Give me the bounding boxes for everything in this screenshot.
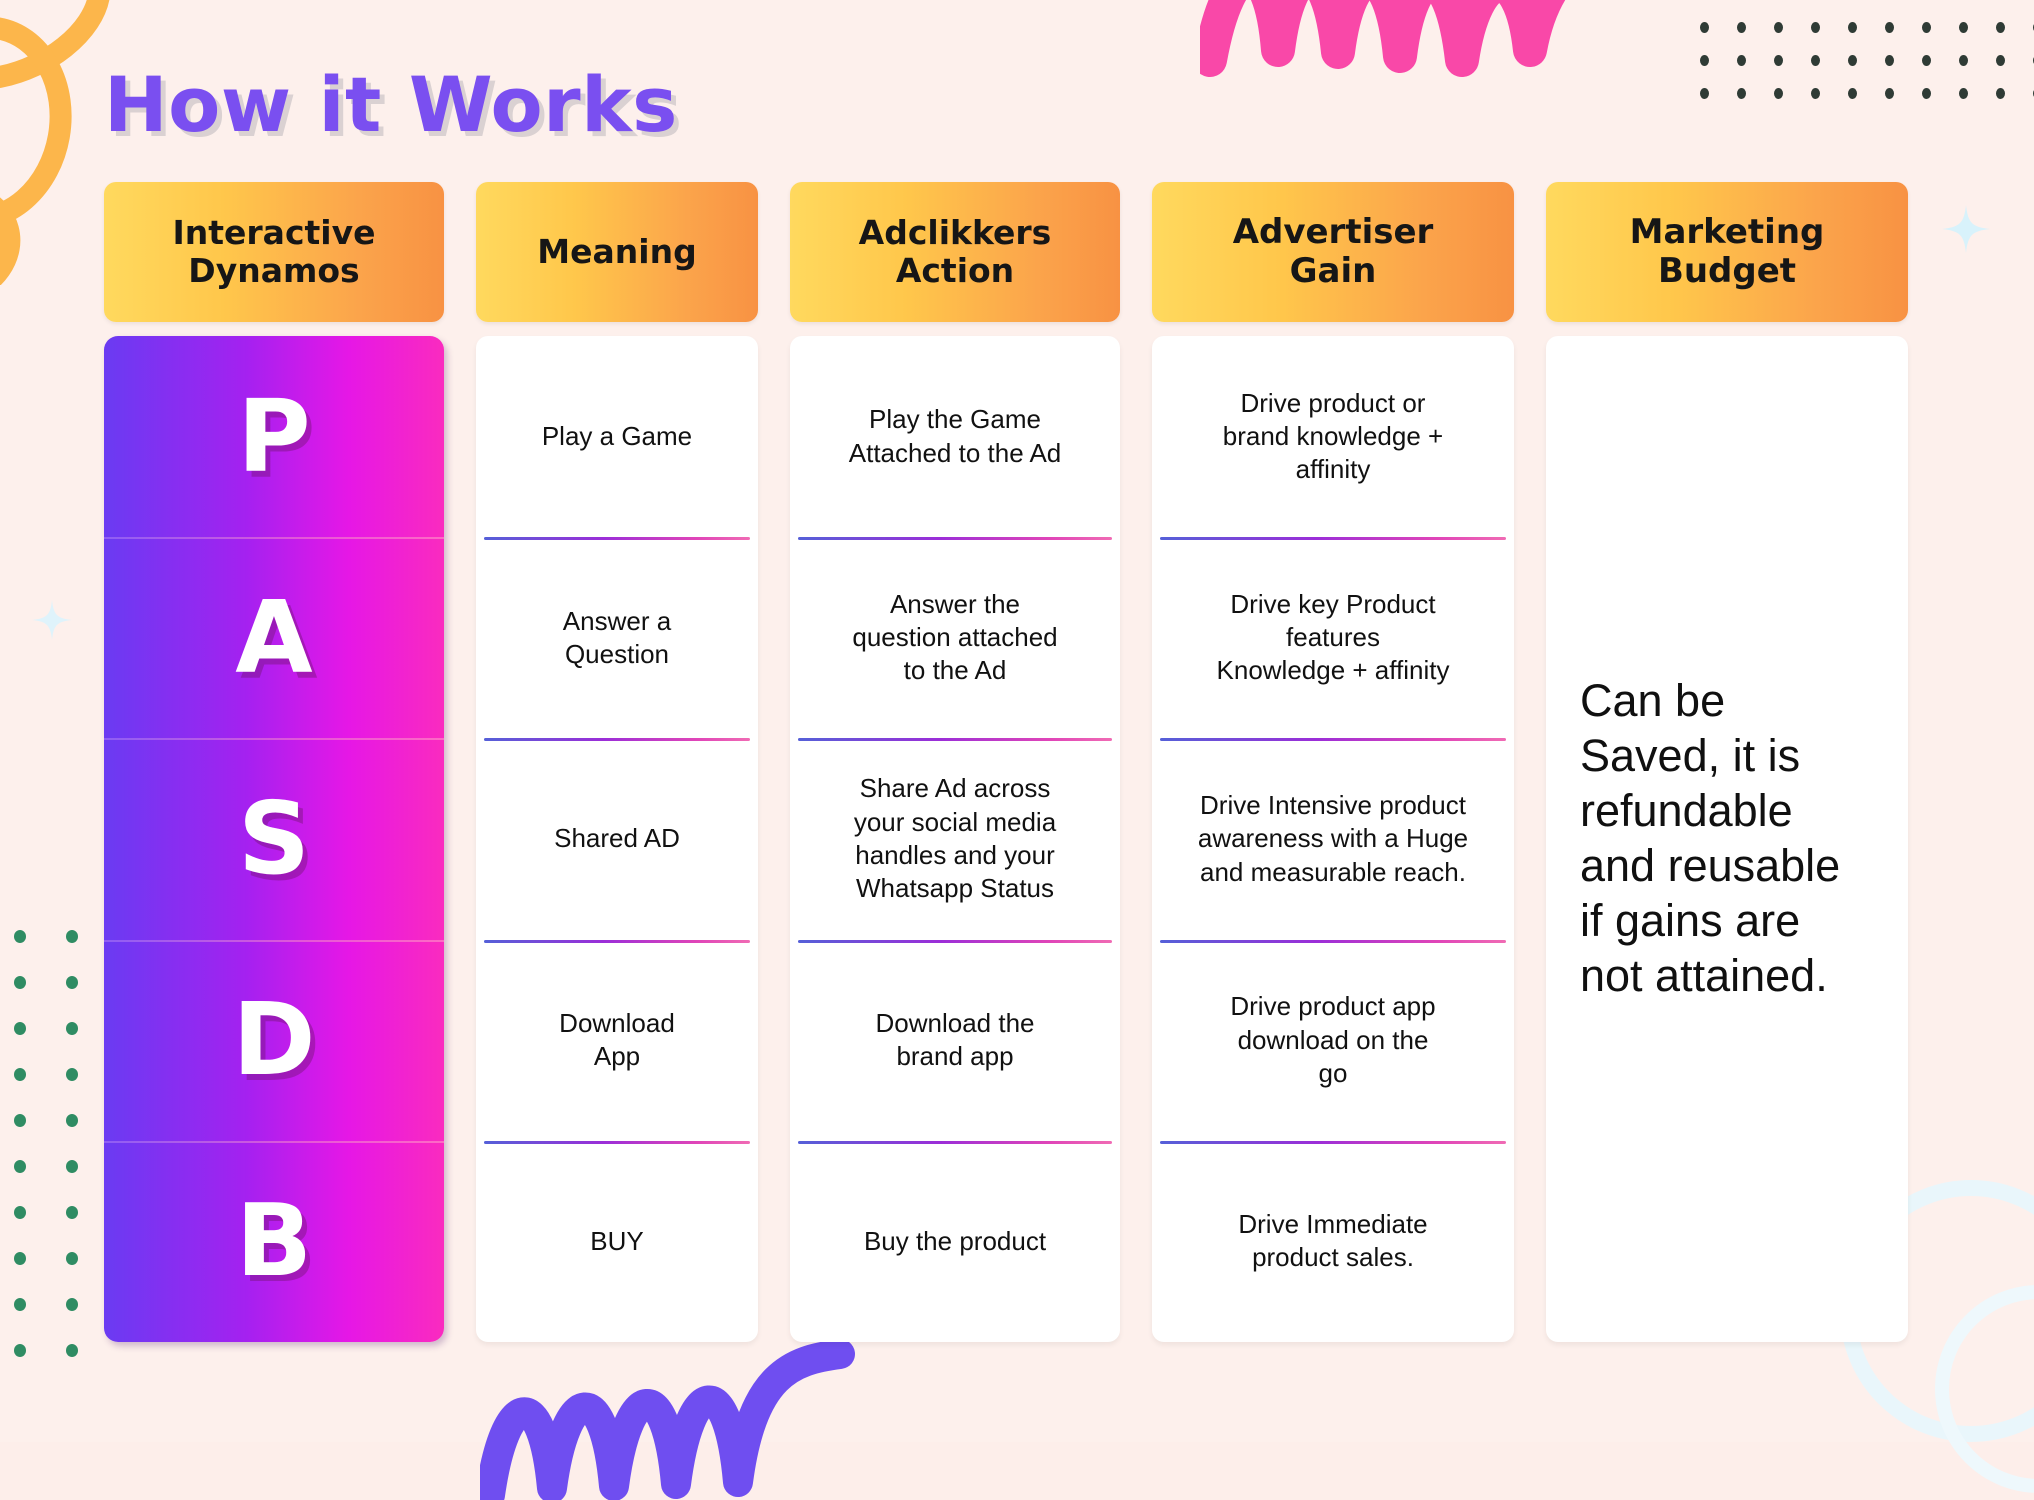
table-cell: Can be Saved, it is refundable and reusa… <box>1546 336 1908 1342</box>
table-cell: Drive Intensive product awareness with a… <box>1152 738 1514 939</box>
table-cell: Play a Game <box>476 336 758 537</box>
column-header-adclikkers-action: Adclikkers Action <box>790 182 1120 322</box>
letters-card: P A S D B <box>104 336 444 1342</box>
table-cell: Drive product app download on the go <box>1152 940 1514 1141</box>
purple-squiggle-icon <box>480 1320 860 1500</box>
column-header-meaning: Meaning <box>476 182 758 322</box>
table-cell: Shared AD <box>476 738 758 939</box>
sparkle-icon <box>1942 205 1990 253</box>
table-cell: Download App <box>476 940 758 1141</box>
table-cell: BUY <box>476 1141 758 1342</box>
letter-s: S <box>238 789 310 889</box>
table-cell: Play the Game Attached to the Ad <box>790 336 1120 537</box>
table-cell: Download the brand app <box>790 940 1120 1141</box>
column-meaning: Meaning Play a Game Answer a Question Sh… <box>476 182 758 1342</box>
adclikkers-action-card: Play the Game Attached to the Ad Answer … <box>790 336 1120 1342</box>
dark-dot-grid-icon <box>1700 22 2034 121</box>
column-header-interactive-dynamos: Interactive Dynamos <box>104 182 444 322</box>
letter-cell: B <box>104 1141 444 1342</box>
letter-p: P <box>237 387 310 487</box>
table-cell: Buy the product <box>790 1141 1120 1342</box>
meaning-card: Play a Game Answer a Question Shared AD … <box>476 336 758 1342</box>
letter-b: B <box>236 1191 312 1291</box>
column-interactive-dynamos: Interactive Dynamos P A S D B <box>104 182 444 1342</box>
table-cell: Answer a Question <box>476 537 758 738</box>
letter-a: A <box>235 588 312 688</box>
page-title: How it Works <box>104 60 678 149</box>
column-advertiser-gain: Advertiser Gain Drive product or brand k… <box>1152 182 1514 1342</box>
advertiser-gain-card: Drive product or brand knowledge + affin… <box>1152 336 1514 1342</box>
table-cell: Answer the question attached to the Ad <box>790 537 1120 738</box>
table-cell: Share Ad across your social media handle… <box>790 738 1120 939</box>
letter-cell: P <box>104 336 444 537</box>
column-header-marketing-budget: Marketing Budget <box>1546 182 1908 322</box>
letter-cell: S <box>104 738 444 939</box>
pink-squiggle-icon <box>1200 0 1670 100</box>
column-marketing-budget: Marketing Budget Can be Saved, it is ref… <box>1546 182 1908 1342</box>
letter-cell: D <box>104 940 444 1141</box>
letter-d: D <box>232 990 315 1090</box>
marketing-budget-text: Can be Saved, it is refundable and reusa… <box>1580 674 1874 1003</box>
how-it-works-table: Interactive Dynamos P A S D B Meaning Pl… <box>104 182 1934 1342</box>
table-cell: Drive key Product features Knowledge + a… <box>1152 537 1514 738</box>
marketing-budget-card: Can be Saved, it is refundable and reusa… <box>1546 336 1908 1342</box>
sparkle-icon <box>32 600 72 640</box>
letter-cell: A <box>104 537 444 738</box>
green-dot-grid-icon <box>14 930 118 1390</box>
column-adclikkers-action: Adclikkers Action Play the Game Attached… <box>790 182 1120 1342</box>
column-header-advertiser-gain: Advertiser Gain <box>1152 182 1514 322</box>
table-cell: Drive Immediate product sales. <box>1152 1141 1514 1342</box>
table-cell: Drive product or brand knowledge + affin… <box>1152 336 1514 537</box>
